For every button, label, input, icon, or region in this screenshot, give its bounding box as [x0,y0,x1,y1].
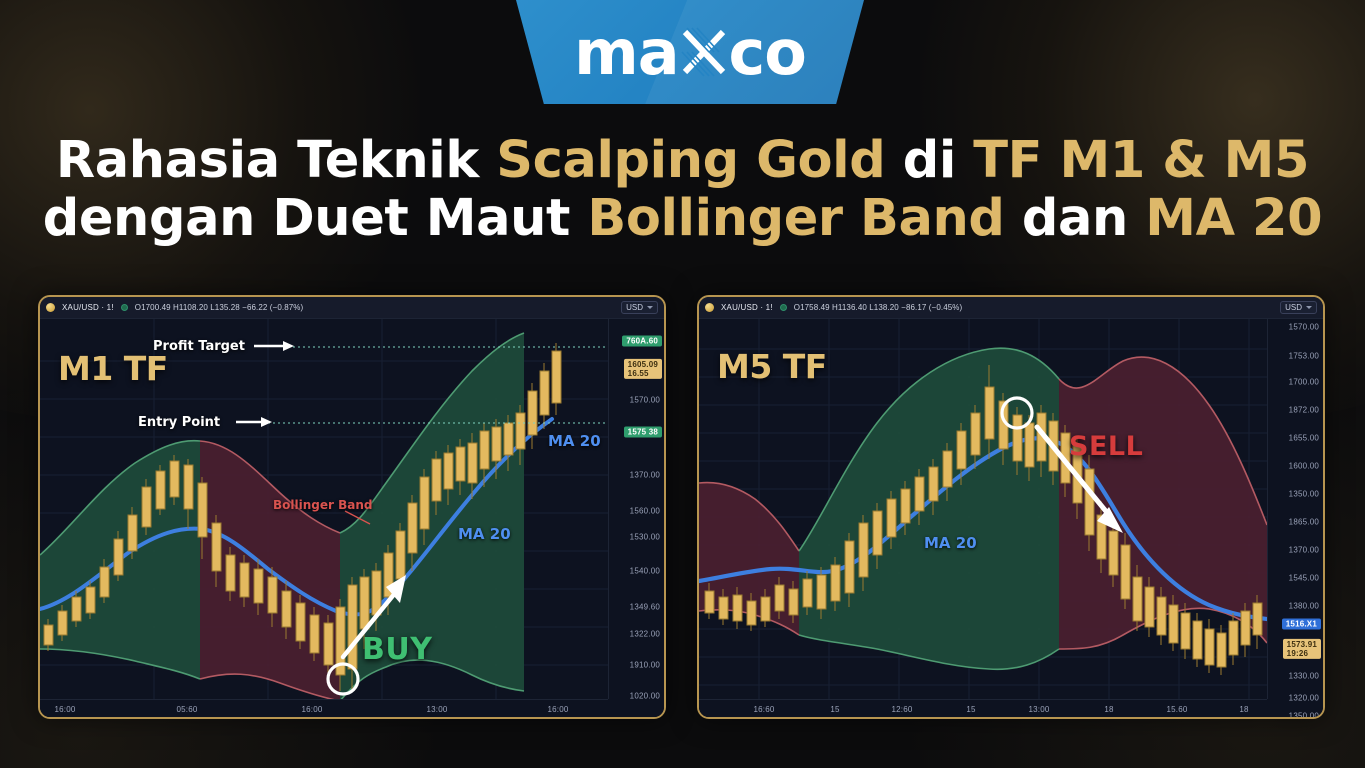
buy-signal-label: BUY [362,632,432,667]
time-tick-2: 16:00 [301,705,322,714]
time-scale-m1[interactable]: 16:00 05:60 16:00 13:00 16:00 [40,699,608,719]
time-tick-2: 12:60 [891,705,912,714]
time-tick-6: 15.60 [1166,705,1187,714]
time-tick-0: 16:60 [753,705,774,714]
price-tick-9: 1545.00 [1289,574,1319,583]
price-badge-high: 760A.60 [622,336,662,347]
chart-card-m5: XAU/USD · 1! O1758.49 H1136.40 L138.20 −… [697,295,1325,719]
price-tick-0: 1570.00 [630,396,660,405]
ma20-label-upper: MA 20 [548,432,601,450]
price-tick-0: 1570.00 [1289,323,1319,332]
brand-banner: ma co [516,0,864,104]
price-tick-12: 1320.00 [1289,694,1319,703]
price-badge-last: 1573.91 19:26 [1283,639,1321,659]
indicator-dot-icon [121,304,128,311]
time-tick-0: 16:00 [54,705,75,714]
ohlc-values: O1758.49 H1136.40 L138.20 −86.17 (−0.45%… [794,303,963,312]
page-title-line-2: dengan Duet Maut Bollinger Band dan MA 2… [0,190,1365,248]
entry-point-label: Entry Point [138,415,220,430]
time-tick-7: 18 [1239,705,1248,714]
timeframe-badge-m5: M5 TF [717,347,827,386]
price-badge-ma: 1516.X1 [1282,619,1321,630]
price-tick-8: 1370.00 [1289,546,1319,555]
title-seg-2: Scalping Gold [496,131,902,190]
price-tick-2: 1700.00 [1289,378,1319,387]
currency-selector[interactable]: USD [1280,301,1317,314]
title-seg-1: Rahasia Teknik [56,131,496,190]
profit-target-label: Profit Target [153,339,245,354]
bollinger-band-label: Bollinger Band [273,498,372,512]
price-tick-3: 1872.00 [1289,406,1319,415]
currency-label: USD [626,303,643,312]
timeframe-badge-m1: M1 TF [58,349,168,388]
price-tick-13: 1350.00 [1289,712,1319,720]
price-tick-7: 1910.00 [630,661,660,670]
title-seg-7: dan [1022,189,1145,248]
time-tick-1: 05:60 [176,705,197,714]
currency-label: USD [1285,303,1302,312]
price-tick-4: 1655.00 [1289,434,1319,443]
chart-header-m1: XAU/USD · 1! O1700.49 H1108.20 L135.28 −… [40,297,664,319]
price-badge-entry: 1575 38 [624,427,662,438]
time-tick-3: 15 [966,705,975,714]
brand-logo-ma: ma [574,16,678,89]
title-seg-5: dengan Duet Maut [43,189,588,248]
title-seg-6: Bollinger Band [587,189,1022,248]
price-tick-2: 1560.00 [630,507,660,516]
title-seg-8: MA 20 [1145,189,1322,248]
symbol-label: XAU/USD · 1! [721,303,773,312]
price-tick-11: 1330.00 [1289,672,1319,681]
brand-logo-x-icon [679,26,729,78]
currency-selector[interactable]: USD [621,301,658,314]
gold-coin-icon [46,303,55,312]
page-title-line-1: Rahasia Teknik Scalping Gold di TF M1 & … [0,132,1365,190]
time-scale-m5[interactable]: 16:60 15 12:60 15 13:00 18 15.60 18 [699,699,1267,719]
price-scale-m5[interactable]: 1570.00 1753.00 1700.00 1872.00 1655.00 … [1267,319,1323,699]
brand-logo: ma co [574,16,806,89]
chart-plot-m1[interactable]: 760A.60 1605.09 16.55 1570.00 1575 38 13… [40,319,664,719]
price-tick-1: 1753.00 [1289,352,1319,361]
chevron-down-icon [647,306,653,309]
price-badge-last: 1605.09 16.55 [624,359,662,379]
time-tick-5: 18 [1104,705,1113,714]
chart-header-m5: XAU/USD · 1! O1758.49 H1136.40 L138.20 −… [699,297,1323,319]
price-scale-m1[interactable]: 760A.60 1605.09 16.55 1570.00 1575 38 13… [608,319,664,699]
price-tick-8: 1020.00 [630,692,660,701]
sell-signal-label: SELL [1069,431,1143,462]
ohlc-values: O1700.49 H1108.20 L135.28 −66.22 (−0.87%… [135,303,304,312]
gold-coin-icon [705,303,714,312]
chevron-down-icon [1306,306,1312,309]
brand-logo-co: co [729,16,806,89]
time-tick-4: 13:00 [1028,705,1049,714]
time-tick-1: 15 [830,705,839,714]
ma20-label-lower: MA 20 [458,525,511,543]
indicator-dot-icon [780,304,787,311]
price-tick-4: 1540.00 [630,567,660,576]
time-tick-3: 13:00 [426,705,447,714]
page-title: Rahasia Teknik Scalping Gold di TF M1 & … [0,132,1365,248]
ma20-label: MA 20 [924,534,977,552]
price-tick-10: 1380.00 [1289,602,1319,611]
price-tick-6: 1350.00 [1289,490,1319,499]
time-tick-4: 16:00 [547,705,568,714]
price-tick-3: 1530.00 [630,533,660,542]
chart-card-m1: XAU/USD · 1! O1700.49 H1108.20 L135.28 −… [38,295,666,719]
price-tick-1: 1370.00 [630,471,660,480]
symbol-label: XAU/USD · 1! [62,303,114,312]
title-seg-3: di [903,131,974,190]
price-tick-7: 1865.00 [1289,518,1319,527]
price-tick-5: 1600.00 [1289,462,1319,471]
title-seg-4: TF M1 & M5 [973,131,1309,190]
price-tick-5: 1349.60 [630,603,660,612]
chart-plot-m5[interactable]: 1570.00 1753.00 1700.00 1872.00 1655.00 … [699,319,1323,719]
price-tick-6: 1322.00 [630,630,660,639]
